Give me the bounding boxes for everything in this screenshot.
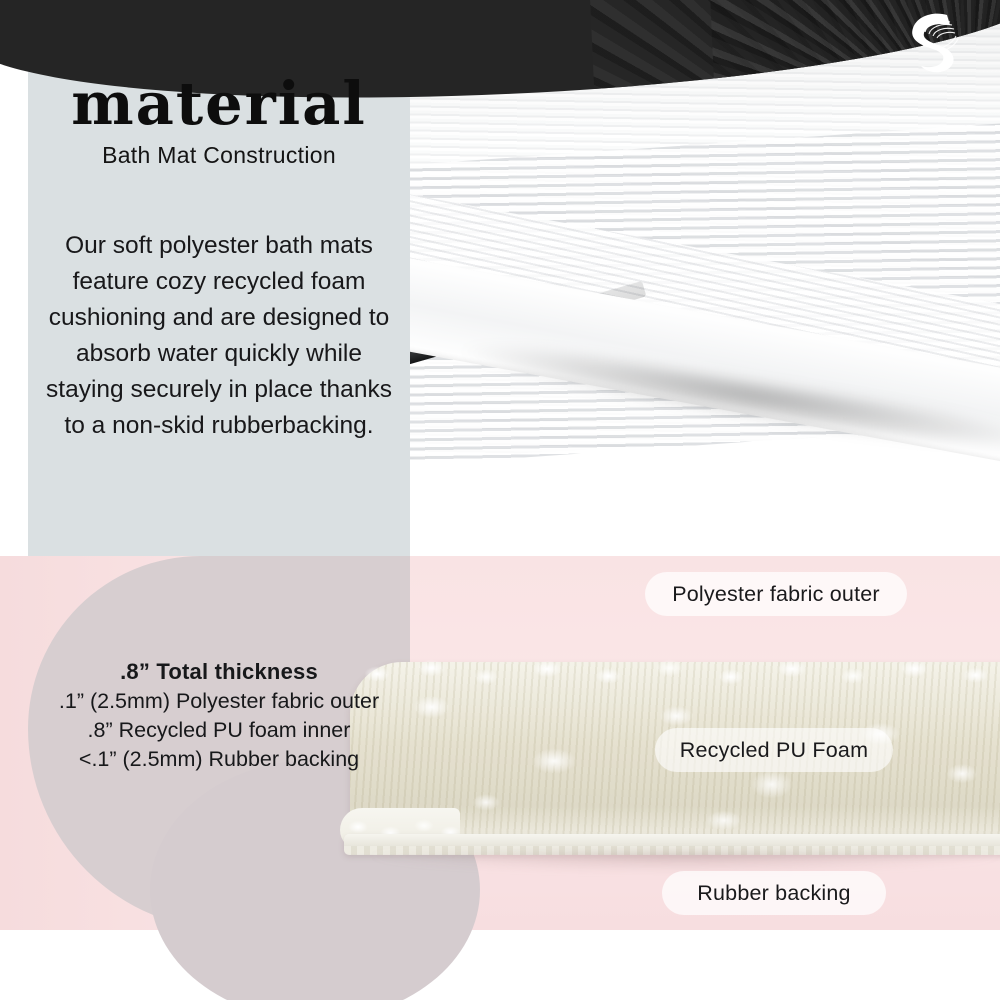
callout-polyester-fabric-outer: Polyester fabric outer [645, 572, 907, 616]
callout-recycled-pu-foam: Recycled PU Foam [655, 728, 893, 772]
spec-heading: .8” Total thickness [28, 657, 410, 687]
page-title: material [28, 74, 410, 133]
thickness-spec-block: .8” Total thickness .1” (2.5mm) Polyeste… [28, 657, 410, 774]
cross-section-shadow [370, 852, 1000, 872]
spec-line-outer: .1” (2.5mm) Polyester fabric outer [28, 687, 410, 716]
infographic-page: Polyester fabric outer Recycled PU Foam … [0, 0, 1000, 1000]
callout-rubber-backing: Rubber backing [662, 871, 886, 915]
swan-s-monogram-icon [893, 6, 965, 80]
polyester-pile-layer [350, 652, 1000, 692]
page-subtitle: Bath Mat Construction [28, 142, 410, 169]
spec-line-rubber: <.1” (2.5mm) Rubber backing [28, 745, 410, 774]
intro-paragraph: Our soft polyester bath mats feature coz… [34, 228, 404, 444]
spec-line-foam: .8” Recycled PU foam inner [28, 716, 410, 745]
